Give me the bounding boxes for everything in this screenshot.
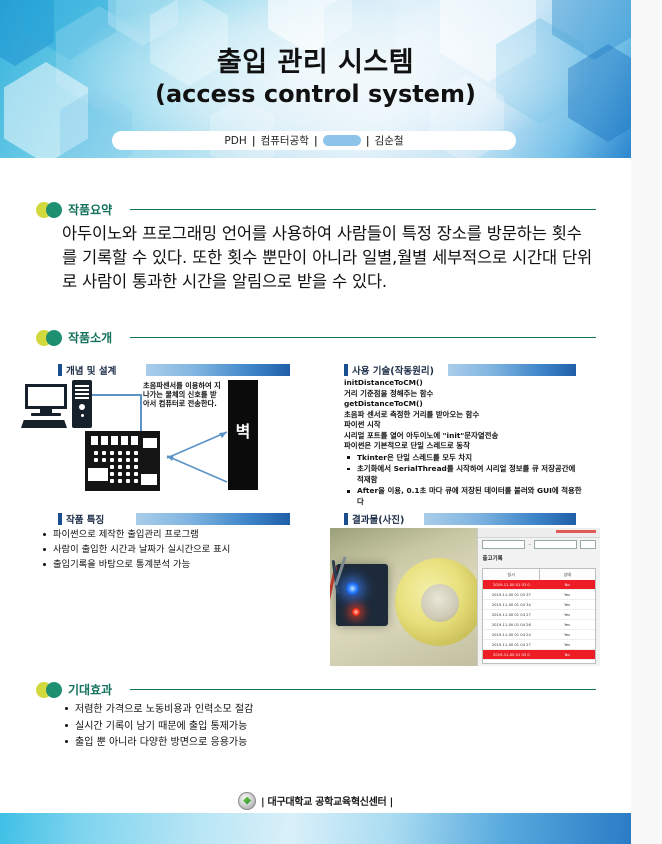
microcontroller-board-icon xyxy=(85,431,160,491)
list-item: 실시간 기록이 남기 때문에 출입 통제가능 xyxy=(62,719,482,735)
footer-text: | 대구대학교 공학교육혁신센터 | xyxy=(261,793,393,808)
tech-line: 거리 기준점을 정해주는 함수 xyxy=(344,389,584,400)
cell-datetime: 2019-11-00 01 04 26 xyxy=(483,623,539,627)
bullet-dot-green-icon xyxy=(46,682,62,698)
section-rule xyxy=(130,337,596,338)
list-item: 파이썬으로 제작한 출입관리 프로그램 xyxy=(40,528,310,542)
section-rule xyxy=(130,209,596,210)
cell-datetime: 2019-11-00 01 04 27 xyxy=(483,643,539,647)
monitor-icon xyxy=(25,384,67,416)
page-gutter xyxy=(631,0,662,844)
cell-status: Yes xyxy=(539,643,595,647)
cell-datetime: 2019-11-00 01 03 0 xyxy=(483,653,539,657)
subheader-result: 결과물(사진) xyxy=(344,513,576,525)
section-title-summary: 작품요약 xyxy=(68,201,112,218)
cell-status: Yes xyxy=(539,623,595,627)
tech-line: initDistanceToCM() xyxy=(344,378,584,389)
tech-line: 시리얼 포트를 열어 아두이노에 "init"문자열전송 xyxy=(344,431,584,442)
table-row[interactable]: 2019-11-00 01 04 26Yes xyxy=(483,620,595,630)
cell-status: Yes xyxy=(539,613,595,617)
subheader-gradient-bar xyxy=(146,364,290,376)
cell-datetime: 2019-11-00 01 04 34 xyxy=(483,603,539,607)
cell-status: Yes xyxy=(539,593,595,597)
section-rule xyxy=(130,689,596,690)
summary-body-text: 아두이노와 프로그래밍 언어를 사용하여 사람들이 특정 장소를 방문하는 횟수… xyxy=(62,222,594,294)
concept-note-text: 초음파센서를 이용하여 지나가는 물체의 신호를 받아서 컴퓨터로 전송한다. xyxy=(143,381,221,409)
cell-status: No xyxy=(539,653,595,657)
subheader-label-concept: 개념 및 설계 xyxy=(66,363,116,377)
signal-arrows-icon xyxy=(165,426,235,488)
cell-datetime: 2019-11-00 01 04 37 xyxy=(483,593,539,597)
meta-separator-3: | xyxy=(366,135,370,147)
cell-status: No xyxy=(539,583,595,587)
keyboard-icon xyxy=(21,420,67,428)
meta-separator-2: | xyxy=(314,135,318,147)
subheader-gradient-bar xyxy=(448,364,576,376)
wire-vertical xyxy=(140,394,142,434)
poster-title-en: (access control system) xyxy=(0,80,631,108)
wall-label: 벽 xyxy=(228,418,258,442)
app-table-body: 2019-11-00 01 03 0No 2019-11-00 01 04 37… xyxy=(482,580,596,664)
cell-datetime: 2019-11-00 01 04 27 xyxy=(483,613,539,617)
section-summary-header: 작품요약 xyxy=(0,200,631,220)
tech-line: 파이썬은 기본적으로 단일 스레드로 동작 xyxy=(344,441,584,452)
table-row[interactable]: 2019-11-00 01 04 27Yes xyxy=(483,610,595,620)
subheader-tick-icon xyxy=(344,513,348,525)
meta-redacted-block xyxy=(323,135,361,146)
app-date-to-field[interactable] xyxy=(534,540,577,549)
meta-prefix: PDH xyxy=(224,135,246,147)
subheader-label-result: 결과물(사진) xyxy=(352,512,404,526)
effect-bullet-list: 저렴한 가격으로 노동비용과 인력소모 절감 실시간 기록이 남기 때문에 출입… xyxy=(62,702,482,752)
red-led-icon xyxy=(352,608,360,616)
section-title-effect: 기대효과 xyxy=(68,681,112,698)
meta-author: 김순철 xyxy=(375,133,404,148)
app-search-button[interactable] xyxy=(580,540,596,549)
university-logo-icon xyxy=(238,792,256,810)
subheader-label-tech: 사용 기술(작동원리) xyxy=(352,363,434,377)
tape-roll-object xyxy=(395,558,477,646)
cell-datetime: 2019-11-00 01 04 24 xyxy=(483,633,539,637)
tech-line: 초음파 센서로 측정한 거리를 받아오는 함수 xyxy=(344,410,584,421)
subheader-tech: 사용 기술(작동원리) xyxy=(344,364,576,376)
wire-horizontal xyxy=(92,394,142,396)
app-date-from-field[interactable] xyxy=(482,540,525,549)
table-row[interactable]: 2019-11-00 01 03 0No xyxy=(483,580,595,590)
cell-status: Yes xyxy=(539,633,595,637)
app-range-separator: ~ xyxy=(528,543,531,547)
bullet-dot-green-icon xyxy=(46,202,62,218)
app-table-title: 출고기록 xyxy=(482,554,502,562)
section-title-intro: 작품소개 xyxy=(68,329,112,346)
tech-description: initDistanceToCM() 거리 기준점을 정해주는 함수 getDi… xyxy=(344,378,584,508)
meta-separator-1: | xyxy=(252,135,256,147)
tech-line: getDistanceToCM() xyxy=(344,399,584,410)
result-photos: ~ 출고기록 일시 상태 2019-11-00 01 03 0No 2019-1… xyxy=(330,528,600,666)
subheader-tick-icon xyxy=(58,364,62,376)
table-row[interactable]: 2019-11-00 01 04 34Yes xyxy=(483,600,595,610)
cell-datetime: 2019-11-00 01 03 0 xyxy=(483,583,539,587)
list-item: 출입 뿐 아니라 다양한 방면으로 응용가능 xyxy=(62,735,482,751)
subheader-tick-icon xyxy=(344,364,348,376)
list-item: 초기화에서 SerialThread를 시작하여 시리얼 정보를 큐 저장공간에… xyxy=(344,464,584,485)
table-row[interactable]: 2019-11-00 01 04 27Yes xyxy=(483,640,595,650)
table-row[interactable]: 2019-11-00 01 04 24Yes xyxy=(483,630,595,640)
tech-bullet-list: Tkinter은 단일 스레드를 모두 차지 초기화에서 SerialThrea… xyxy=(344,453,584,508)
bullet-dot-green-icon xyxy=(46,330,62,346)
subheader-tick-icon xyxy=(58,513,62,525)
section-effect-header: 기대효과 xyxy=(0,680,631,700)
subheader-concept: 개념 및 설계 xyxy=(58,364,290,376)
footer-band xyxy=(0,813,631,844)
section-intro-header: 작품소개 xyxy=(0,328,631,348)
table-row[interactable]: 2019-11-00 01 03 0No xyxy=(483,650,595,660)
subheader-label-features: 작품 특징 xyxy=(66,512,104,526)
tech-line: 파이썬 시작 xyxy=(344,420,584,431)
app-filter-row: ~ xyxy=(482,540,596,549)
pc-tower-icon xyxy=(72,380,92,428)
meta-department: 컴퓨터공학 xyxy=(261,133,309,148)
features-bullet-list: 파이썬으로 제작한 출입관리 프로그램 사람이 출입한 시간과 날짜가 실시간으… xyxy=(40,528,310,573)
poster-meta-bar: PDH | 컴퓨터공학 | | 김순철 xyxy=(112,131,516,150)
list-item: 출입기록을 바탕으로 통계분석 가능 xyxy=(40,558,310,572)
poster-page: 출입 관리 시스템 (access control system) PDH | … xyxy=(0,0,631,844)
cell-status: Yes xyxy=(539,603,595,607)
list-item: 사람이 출입한 시간과 날짜가 실시간으로 표시 xyxy=(40,543,310,557)
list-item: After을 이용, 0.1초 마다 큐에 저장된 데이터를 불러와 GUI에 … xyxy=(344,486,584,507)
app-titlebar xyxy=(478,528,600,538)
page-footer: | 대구대학교 공학교육혁신센터 | xyxy=(0,788,631,813)
wall-block: 벽 xyxy=(228,380,258,490)
list-item: 저렴한 가격으로 노동비용과 인력소모 절감 xyxy=(62,702,482,718)
hardware-photo xyxy=(330,528,477,666)
arduino-device xyxy=(336,564,388,626)
blue-led-icon xyxy=(346,582,359,595)
concept-diagram: 초음파센서를 이용하여 지나가는 물체의 신호를 받아서 컴퓨터로 전송한다. … xyxy=(25,378,305,498)
header-banner: 출입 관리 시스템 (access control system) PDH | … xyxy=(0,0,631,158)
app-screenshot: ~ 출고기록 일시 상태 2019-11-00 01 03 0No 2019-1… xyxy=(477,528,600,666)
subheader-gradient-bar xyxy=(424,513,576,525)
list-item: Tkinter은 단일 스레드를 모두 차지 xyxy=(344,453,584,464)
subheader-features: 작품 특징 xyxy=(58,513,290,525)
table-row[interactable]: 2019-11-00 01 04 37Yes xyxy=(483,590,595,600)
subheader-gradient-bar xyxy=(136,513,290,525)
poster-title-ko: 출입 관리 시스템 xyxy=(0,40,631,79)
